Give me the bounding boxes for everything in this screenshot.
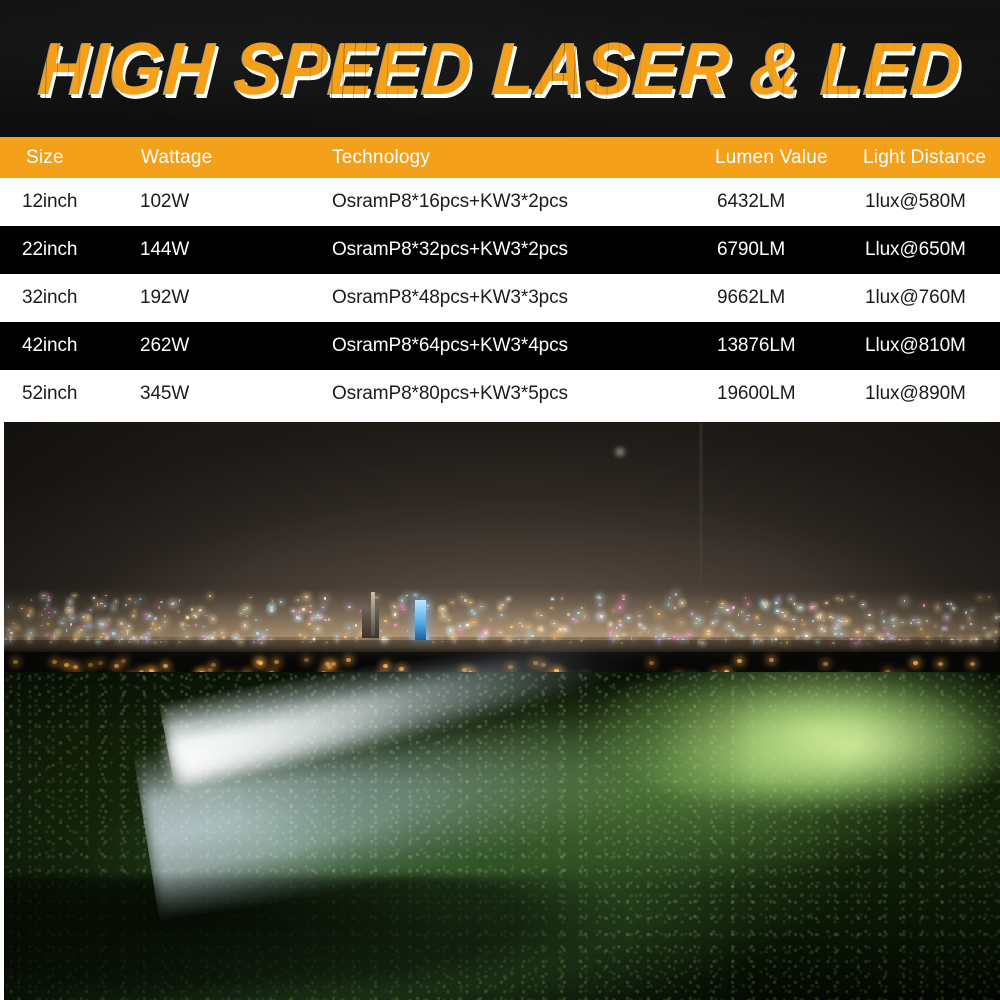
column-header-lumen: Lumen Value <box>655 137 835 178</box>
cell-technology: OsramP8*48pcs+KW3*3pcs <box>270 274 655 322</box>
cell-lumen: 9662LM <box>655 274 835 322</box>
cell-wattage: 102W <box>112 178 270 226</box>
cell-lumen: 13876LM <box>655 322 835 370</box>
sky-light-spot <box>612 447 628 457</box>
column-header-size-label: Size <box>0 147 112 169</box>
product-infographic-page: HIGH SPEED LASER & LED Size Wattage Tech… <box>0 0 1000 1000</box>
column-header-wattage: Wattage <box>112 137 270 178</box>
cell-size-value: 42inch <box>0 335 112 357</box>
cell-distance-value: Llux@810M <box>835 335 1000 357</box>
cell-technology-value: OsramP8*80pcs+KW3*5pcs <box>270 383 655 405</box>
cell-wattage: 262W <box>112 322 270 370</box>
cell-lumen-value: 6432LM <box>655 191 835 213</box>
cell-wattage-value: 262W <box>112 335 270 357</box>
cell-distance: 1lux@580M <box>835 178 1000 226</box>
column-header-size: Size <box>0 137 112 178</box>
column-header-technology-label: Technology <box>270 147 655 169</box>
forest-dark-foreground <box>0 877 1000 1000</box>
cell-distance-value: 1lux@890M <box>835 383 1000 405</box>
column-header-wattage-label: Wattage <box>112 147 270 169</box>
cell-size: 52inch <box>0 370 112 418</box>
cell-lumen: 6432LM <box>655 178 835 226</box>
cell-lumen-value: 13876LM <box>655 335 835 357</box>
cell-wattage-value: 192W <box>112 287 270 309</box>
cell-size-value: 52inch <box>0 383 112 405</box>
cell-lumen-value: 9662LM <box>655 287 835 309</box>
cell-lumen: 6790LM <box>655 226 835 274</box>
table-header-row: Size Wattage Technology Lumen Value Ligh… <box>0 137 1000 178</box>
cell-wattage: 144W <box>112 226 270 274</box>
column-header-lumen-label: Lumen Value <box>655 147 835 169</box>
cell-size: 22inch <box>0 226 112 274</box>
table-body: 12inch 102W OsramP8*16pcs+KW3*2pcs 6432L… <box>0 178 1000 418</box>
cell-technology-value: OsramP8*48pcs+KW3*3pcs <box>270 287 655 309</box>
cell-size: 42inch <box>0 322 112 370</box>
table-header: Size Wattage Technology Lumen Value Ligh… <box>0 137 1000 178</box>
cell-lumen: 19600LM <box>655 370 835 418</box>
cell-technology: OsramP8*16pcs+KW3*2pcs <box>270 178 655 226</box>
cell-size-value: 32inch <box>0 287 112 309</box>
cell-distance: 1lux@890M <box>835 370 1000 418</box>
cell-distance-value: Llux@650M <box>835 239 1000 261</box>
cell-technology: OsramP8*80pcs+KW3*5pcs <box>270 370 655 418</box>
cell-distance-value: 1lux@760M <box>835 287 1000 309</box>
cell-size: 32inch <box>0 274 112 322</box>
banner-title-container: HIGH SPEED LASER & LED <box>0 0 1000 137</box>
cell-technology-value: OsramP8*16pcs+KW3*2pcs <box>270 191 655 213</box>
cell-wattage: 345W <box>112 370 270 418</box>
table-row: 12inch 102W OsramP8*16pcs+KW3*2pcs 6432L… <box>0 178 1000 226</box>
cell-wattage-value: 102W <box>112 191 270 213</box>
cell-wattage-value: 345W <box>112 383 270 405</box>
cell-size-value: 12inch <box>0 191 112 213</box>
cell-technology: OsramP8*32pcs+KW3*2pcs <box>270 226 655 274</box>
cell-lumen-value: 6790LM <box>655 239 835 261</box>
cell-size-value: 22inch <box>0 239 112 261</box>
title-banner: HIGH SPEED LASER & LED <box>0 0 1000 137</box>
cell-technology: OsramP8*64pcs+KW3*4pcs <box>270 322 655 370</box>
cell-wattage-value: 144W <box>112 239 270 261</box>
column-header-distance: Light Distance <box>835 137 1000 178</box>
cell-distance: 1lux@760M <box>835 274 1000 322</box>
column-header-technology: Technology <box>270 137 655 178</box>
table-row: 42inch 262W OsramP8*64pcs+KW3*4pcs 13876… <box>0 322 1000 370</box>
cell-distance-value: 1lux@580M <box>835 191 1000 213</box>
cell-size: 12inch <box>0 178 112 226</box>
photo-left-margin <box>0 422 4 1000</box>
night-beam-demo-photo <box>0 422 1000 1000</box>
cell-distance: Llux@810M <box>835 322 1000 370</box>
cell-wattage: 192W <box>112 274 270 322</box>
cell-technology-value: OsramP8*32pcs+KW3*2pcs <box>270 239 655 261</box>
table-row: 32inch 192W OsramP8*48pcs+KW3*3pcs 9662L… <box>0 274 1000 322</box>
page-title: HIGH SPEED LASER & LED <box>31 32 970 106</box>
specification-table: Size Wattage Technology Lumen Value Ligh… <box>0 137 1000 418</box>
cell-lumen-value: 19600LM <box>655 383 835 405</box>
table-row: 22inch 144W OsramP8*32pcs+KW3*2pcs 6790L… <box>0 226 1000 274</box>
cell-distance: Llux@650M <box>835 226 1000 274</box>
table-row: 52inch 345W OsramP8*80pcs+KW3*5pcs 19600… <box>0 370 1000 418</box>
cell-technology-value: OsramP8*64pcs+KW3*4pcs <box>270 335 655 357</box>
column-header-distance-label: Light Distance <box>835 147 1000 169</box>
